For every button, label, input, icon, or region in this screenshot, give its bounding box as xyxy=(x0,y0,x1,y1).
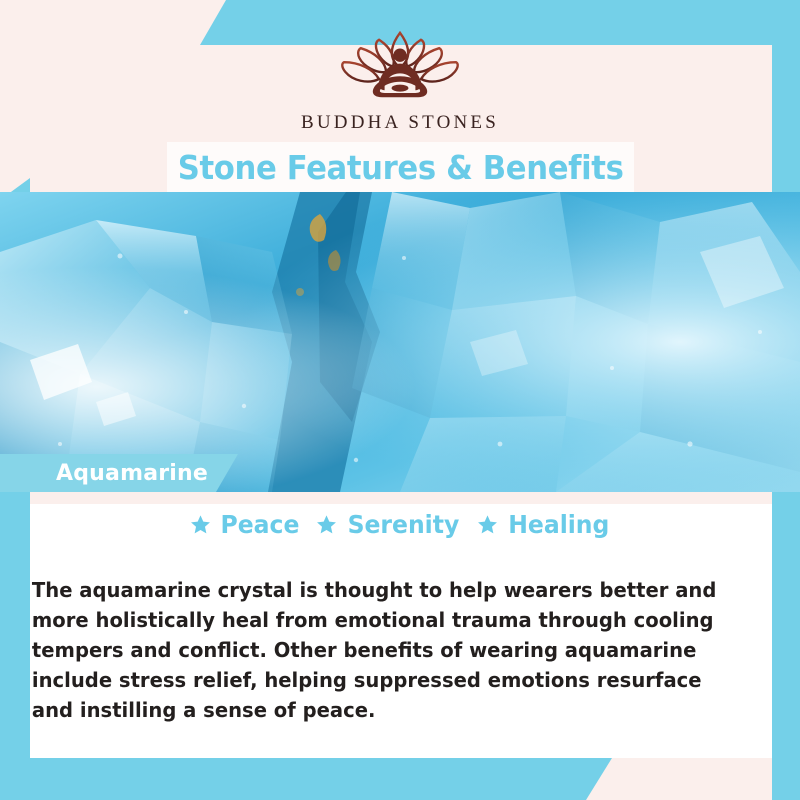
content-top-strip xyxy=(30,492,772,504)
keyword-label: Serenity xyxy=(347,510,459,539)
star-icon xyxy=(477,514,498,535)
content-panel: Peace Serenity Healing The aquamarine cr… xyxy=(30,492,772,758)
stone-label-band: Aquamarine xyxy=(0,454,238,492)
aquamarine-crystal-cluster-photo xyxy=(0,192,800,492)
keyword-list: Peace Serenity Healing xyxy=(30,510,772,539)
page-title: Stone Features & Benefits xyxy=(178,148,624,187)
infographic-page: BUDDHA STONES Stone Features & Benefits xyxy=(0,0,800,800)
brand-name: BUDDHA STONES xyxy=(0,112,800,134)
decorative-band-bottom xyxy=(0,758,612,800)
keyword-item: Serenity xyxy=(316,510,463,539)
title-plaque: Stone Features & Benefits xyxy=(167,142,634,192)
star-icon xyxy=(190,514,211,535)
star-icon xyxy=(316,514,337,535)
keyword-label: Healing xyxy=(508,510,609,539)
keyword-item: Healing xyxy=(477,510,613,539)
hero-image: Aquamarine xyxy=(0,192,800,492)
lotus-meditation-figure-icon xyxy=(330,22,470,108)
description-text: The aquamarine crystal is thought to hel… xyxy=(30,575,739,725)
keyword-label: Peace xyxy=(220,510,299,539)
keyword-item: Peace xyxy=(190,510,302,539)
brand-logo: BUDDHA STONES xyxy=(0,22,800,134)
stone-name: Aquamarine xyxy=(56,461,208,486)
